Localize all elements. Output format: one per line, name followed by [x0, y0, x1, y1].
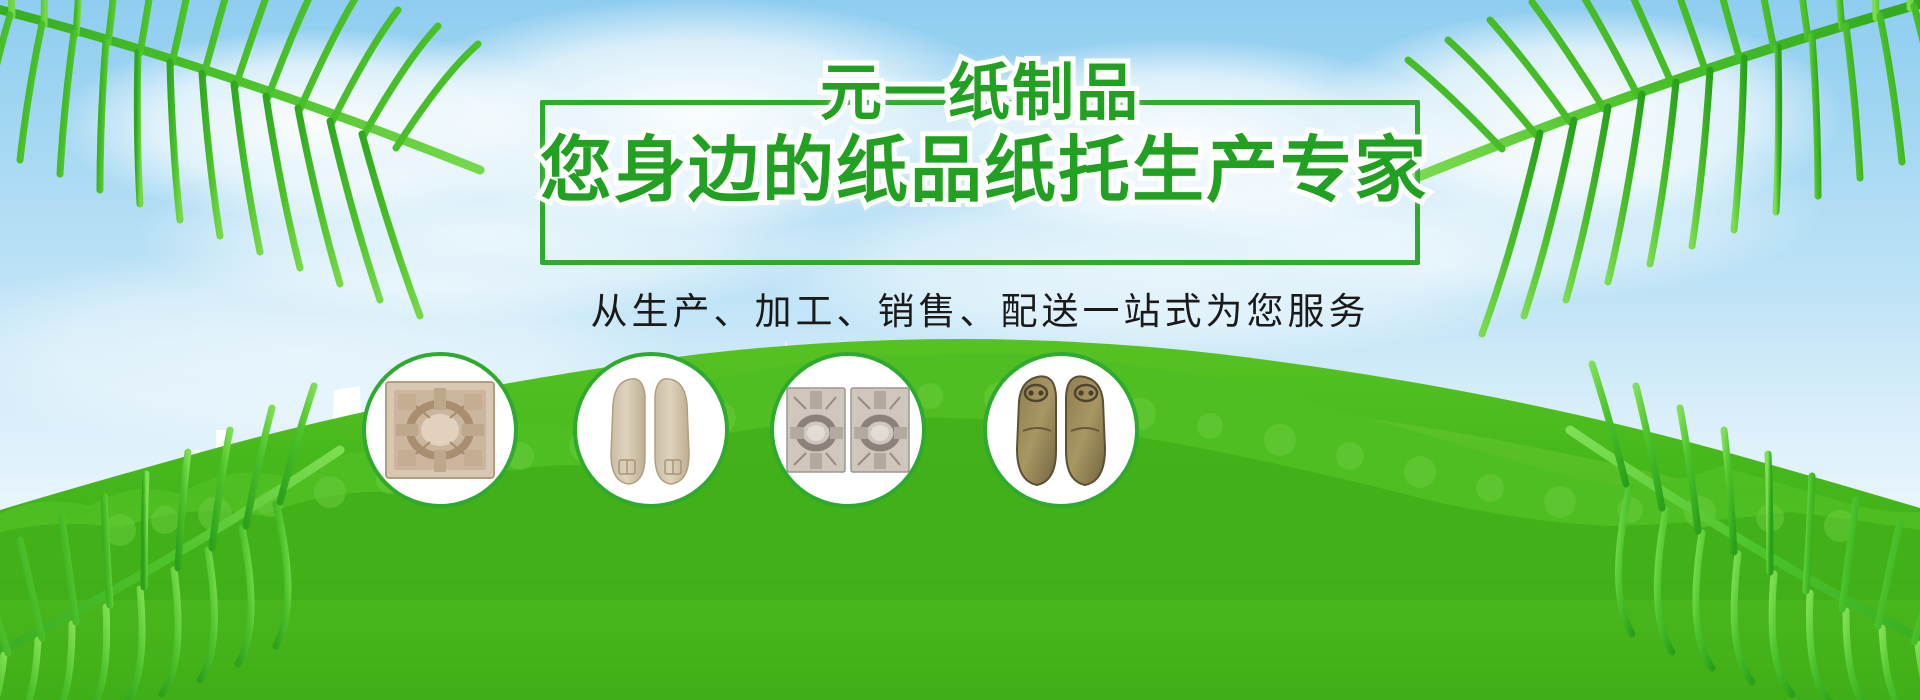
- pulp-corner-protectors: [786, 387, 910, 473]
- promo-banner: 元一纸制品 您身边的纸品纸托生产专家 从生产、加工、销售、配送一站式为您服务: [0, 0, 1920, 700]
- square-pulp-tray: [384, 380, 496, 480]
- product-2-alt: 纸浆鞋垫内托: [0, 0, 1, 1]
- tagline: 从生产、加工、销售、配送一站式为您服务: [540, 290, 1420, 334]
- product-4-alt: 纸浆鞋撑鞋楦: [0, 0, 1, 1]
- product-circle-3[interactable]: [770, 352, 926, 508]
- headline-block: 元一纸制品 您身边的纸品纸托生产专家: [540, 100, 1420, 265]
- product-circle-1[interactable]: [362, 352, 518, 508]
- pulp-shoe-tree-pair: [1009, 371, 1113, 489]
- product-1-alt: 纸托方形包装内托: [0, 0, 1, 1]
- pulp-shoe-insole-pair: [603, 370, 699, 490]
- product-circle-4[interactable]: [983, 352, 1139, 508]
- page-title: 元一纸制品: [540, 62, 1420, 124]
- product-circle-2[interactable]: [573, 352, 729, 508]
- page-subtitle-bold: 您身边的纸品纸托生产专家: [540, 132, 1420, 208]
- product-3-alt: 纸托护角包装: [0, 0, 1, 1]
- product-showcase: [0, 352, 1920, 512]
